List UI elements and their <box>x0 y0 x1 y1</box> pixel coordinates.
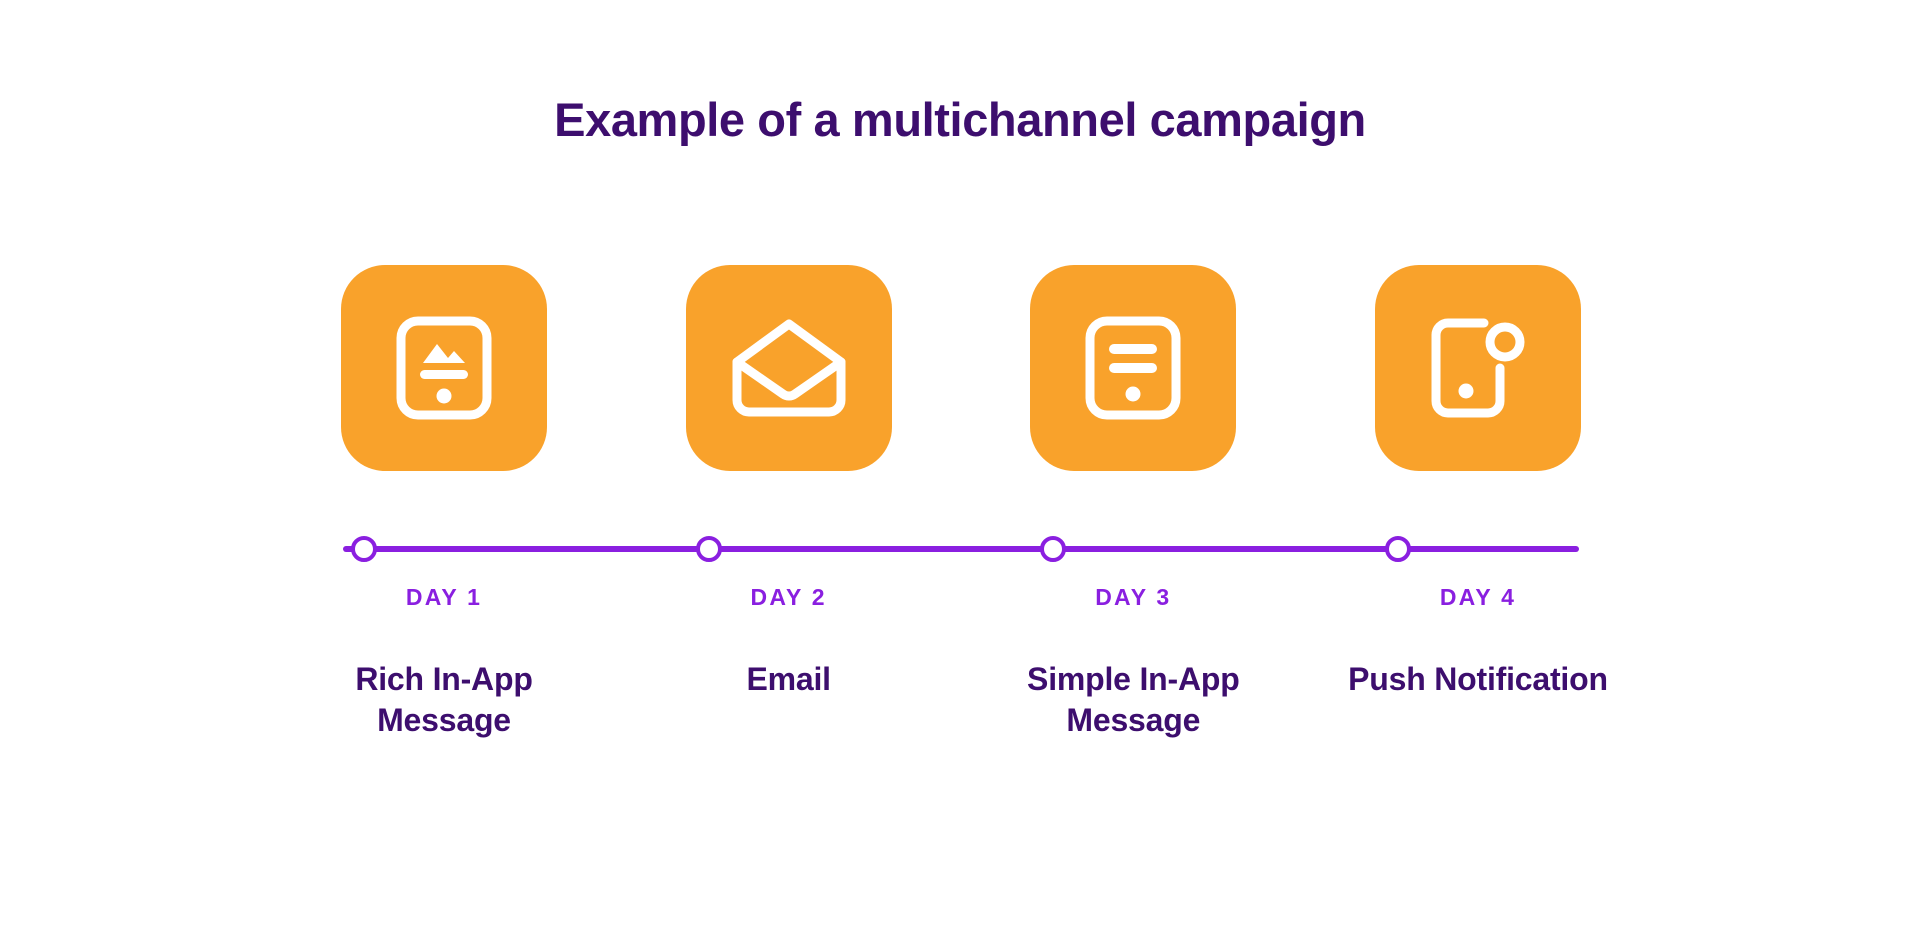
push-notification-icon <box>1426 316 1530 420</box>
campaign-step-4: DAY 4 Push Notification <box>1330 265 1626 700</box>
step-4-timeline-spacer <box>1330 471 1626 583</box>
step-3-caption: Simple In-App Message <box>1003 659 1263 741</box>
page-title: Example of a multichannel campaign <box>0 92 1920 148</box>
step-2-caption: Email <box>746 659 830 700</box>
simple-in-app-message-icon <box>1085 316 1181 420</box>
step-1-caption: Rich In-App Message <box>314 659 574 741</box>
campaign-steps: DAY 1 Rich In-App Message DAY 2 Email <box>296 265 1626 825</box>
step-4-icon-tile[interactable] <box>1375 265 1581 471</box>
step-3-day-label: DAY 3 <box>1095 583 1171 611</box>
step-3-timeline-spacer <box>985 471 1281 583</box>
campaign-step-2: DAY 2 Email <box>641 265 937 700</box>
step-1-day-label: DAY 1 <box>406 583 482 611</box>
step-4-day-label: DAY 4 <box>1440 583 1516 611</box>
step-1-timeline-spacer <box>296 471 592 583</box>
campaign-step-3: DAY 3 Simple In-App Message <box>985 265 1281 741</box>
step-4-caption: Push Notification <box>1348 659 1608 700</box>
step-1-icon-tile[interactable] <box>341 265 547 471</box>
step-2-day-label: DAY 2 <box>751 583 827 611</box>
campaign-step-1: DAY 1 Rich In-App Message <box>296 265 592 741</box>
step-3-icon-tile[interactable] <box>1030 265 1236 471</box>
step-2-icon-tile[interactable] <box>686 265 892 471</box>
multichannel-campaign-infographic: Example of a multichannel campaign <box>0 0 1920 925</box>
open-envelope-icon <box>731 318 847 418</box>
rich-in-app-message-icon <box>396 316 492 420</box>
step-2-timeline-spacer <box>641 471 937 583</box>
